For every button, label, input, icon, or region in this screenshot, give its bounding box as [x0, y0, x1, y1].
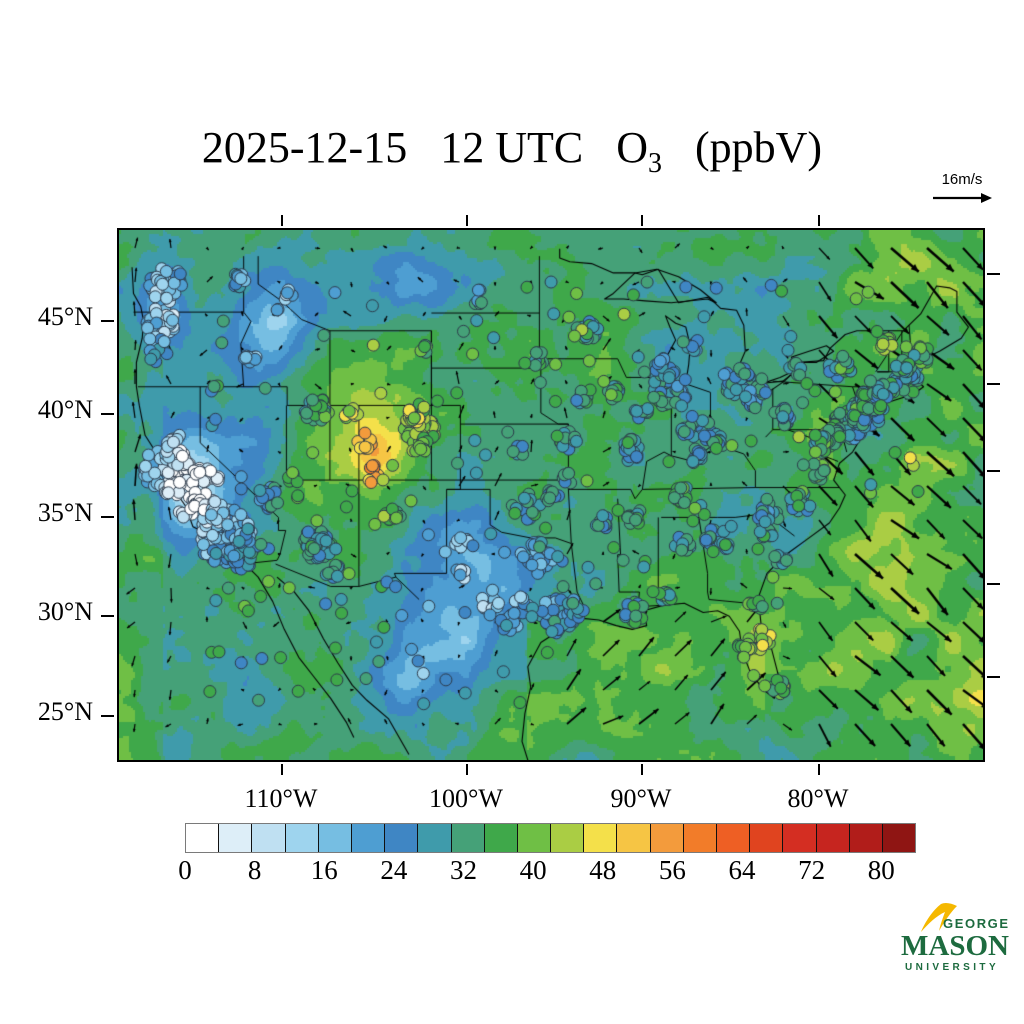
- lat-axis-label: 35°N: [0, 498, 93, 528]
- colorbar-segment: [817, 824, 850, 852]
- lon-tick-bottom: [818, 764, 820, 775]
- colorbar-segment: [219, 824, 252, 852]
- colorbar-segment: [385, 824, 418, 852]
- map-overlays: [119, 230, 983, 760]
- colorbar-segment: [286, 824, 319, 852]
- colorbar-segment: [783, 824, 816, 852]
- colorbar-segment: [617, 824, 650, 852]
- lat-tick: [101, 516, 114, 518]
- lon-tick-bottom: [281, 764, 283, 775]
- colorbar-segment: [883, 824, 915, 852]
- logo-line3: UNIVERSITY: [905, 962, 999, 973]
- colorbar-segment: [850, 824, 883, 852]
- colorbar-segment: [252, 824, 285, 852]
- gmu-logo: GEORGE MASON UNIVERSITY: [897, 900, 1015, 980]
- lat-axis-label: 25°N: [0, 697, 93, 727]
- lat-axis-label: 40°N: [0, 395, 93, 425]
- lon-tick-top: [466, 215, 468, 226]
- colorbar-tick-label: 8: [248, 855, 262, 886]
- title-species-subscript: 3: [648, 148, 662, 179]
- lat-tick: [101, 715, 114, 717]
- colorbar-tick-label: 16: [311, 855, 338, 886]
- lon-tick-top: [641, 215, 643, 226]
- colorbar-segment: [352, 824, 385, 852]
- page-title: 2025-12-15 12 UTC O3 (ppbV): [0, 122, 1024, 180]
- colorbar-tick-label: 24: [380, 855, 407, 886]
- lon-axis-label: 100°W: [386, 784, 546, 814]
- title-units: (ppbV): [695, 123, 822, 172]
- title-date: 2025-12-15: [202, 123, 407, 172]
- colorbar-tick-label: 48: [589, 855, 616, 886]
- colorbar-segment: [551, 824, 584, 852]
- lon-axis-label: 110°W: [201, 784, 361, 814]
- title-time: 12 UTC: [440, 123, 583, 172]
- lat-axis-label: 30°N: [0, 597, 93, 627]
- colorbar-segment: [684, 824, 717, 852]
- colorbar-segment: [418, 824, 451, 852]
- colorbar-tick-label: 72: [798, 855, 825, 886]
- title-spacer1: [418, 123, 429, 172]
- figure-root: 2025-12-15 12 UTC O3 (ppbV) 16m/s 45°N40…: [0, 0, 1024, 1024]
- colorbar-segment: [651, 824, 684, 852]
- colorbar-segment: [319, 824, 352, 852]
- colorbar-segment: [452, 824, 485, 852]
- wind-key-label: 16m/s: [912, 172, 1012, 188]
- right-arrow-icon: [912, 191, 1012, 210]
- lat-tick: [101, 615, 114, 617]
- lon-tick-bottom: [641, 764, 643, 775]
- lat-tick: [101, 413, 114, 415]
- map-plot-area[interactable]: [117, 228, 985, 762]
- lon-tick-bottom: [466, 764, 468, 775]
- logo-line2: MASON: [901, 930, 1009, 962]
- title-spacer3: [673, 123, 684, 172]
- wind-vector-key: 16m/s: [912, 172, 1012, 216]
- title-species: O: [616, 123, 648, 172]
- lat-tick-right: [987, 583, 1000, 585]
- title-spacer2: [594, 123, 605, 172]
- colorbar-tick-label: 32: [450, 855, 477, 886]
- lon-axis-label: 80°W: [738, 784, 898, 814]
- lat-tick: [101, 320, 114, 322]
- colorbar-tick-label: 0: [178, 855, 192, 886]
- colorbar-segment: [186, 824, 219, 852]
- lat-tick-right: [987, 676, 1000, 678]
- colorbar-segment: [750, 824, 783, 852]
- colorbar-tick-label: 80: [868, 855, 895, 886]
- lon-tick-top: [818, 215, 820, 226]
- lon-tick-top: [281, 215, 283, 226]
- logo-line1: GEORGE: [943, 916, 1010, 931]
- colorbar-tick-label: 56: [659, 855, 686, 886]
- colorbar[interactable]: [185, 823, 916, 853]
- colorbar-segment: [485, 824, 518, 852]
- lat-tick-right: [987, 383, 1000, 385]
- colorbar-segment: [717, 824, 750, 852]
- colorbar-segment: [584, 824, 617, 852]
- lat-axis-label: 45°N: [0, 302, 93, 332]
- colorbar-tick-labels: 08162432404856647280: [185, 855, 916, 889]
- lat-tick-right: [987, 470, 1000, 472]
- lon-axis-label: 90°W: [561, 784, 721, 814]
- colorbar-tick-label: 64: [728, 855, 755, 886]
- lat-tick-right: [987, 273, 1000, 275]
- colorbar-tick-label: 40: [520, 855, 547, 886]
- colorbar-segment: [518, 824, 551, 852]
